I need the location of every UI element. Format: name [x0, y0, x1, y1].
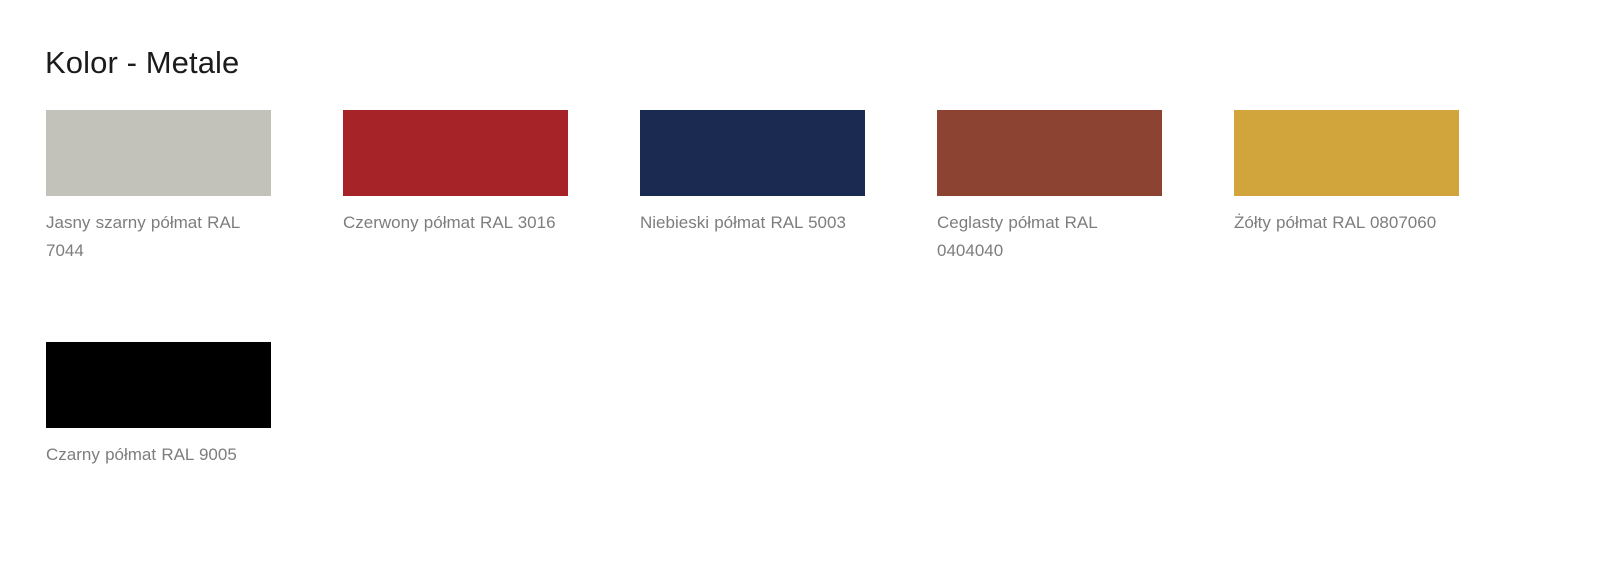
color-swatch-option[interactable]: Czarny półmat RAL 9005 — [46, 342, 271, 469]
color-swatch-option[interactable]: Żółty półmat RAL 0807060 — [1234, 110, 1459, 265]
color-swatch-option[interactable]: Czerwony półmat RAL 3016 — [343, 110, 568, 265]
page-title: Kolor - Metale — [45, 43, 239, 83]
color-chip[interactable] — [46, 342, 271, 428]
color-chip[interactable] — [343, 110, 568, 196]
color-chip[interactable] — [937, 110, 1162, 196]
color-swatch-grid: Jasny szarny półmat RAL 7044 Czerwony pó… — [46, 110, 1546, 469]
color-options-panel: Kolor - Metale Jasny szarny półmat RAL 7… — [0, 0, 1600, 563]
color-chip[interactable] — [46, 110, 271, 196]
color-swatch-option[interactable]: Jasny szarny półmat RAL 7044 — [46, 110, 271, 265]
color-swatch-label: Czarny półmat RAL 9005 — [46, 441, 271, 469]
color-swatch-option[interactable]: Niebieski półmat RAL 5003 — [640, 110, 865, 265]
color-swatch-option[interactable]: Ceglasty półmat RAL 0404040 — [937, 110, 1162, 265]
color-chip[interactable] — [1234, 110, 1459, 196]
color-swatch-label: Ceglasty półmat RAL 0404040 — [937, 209, 1162, 265]
color-chip[interactable] — [640, 110, 865, 196]
color-swatch-label: Niebieski półmat RAL 5003 — [640, 209, 865, 237]
color-swatch-label: Czerwony półmat RAL 3016 — [343, 209, 568, 237]
color-swatch-label: Żółty półmat RAL 0807060 — [1234, 209, 1459, 237]
color-swatch-label: Jasny szarny półmat RAL 7044 — [46, 209, 271, 265]
